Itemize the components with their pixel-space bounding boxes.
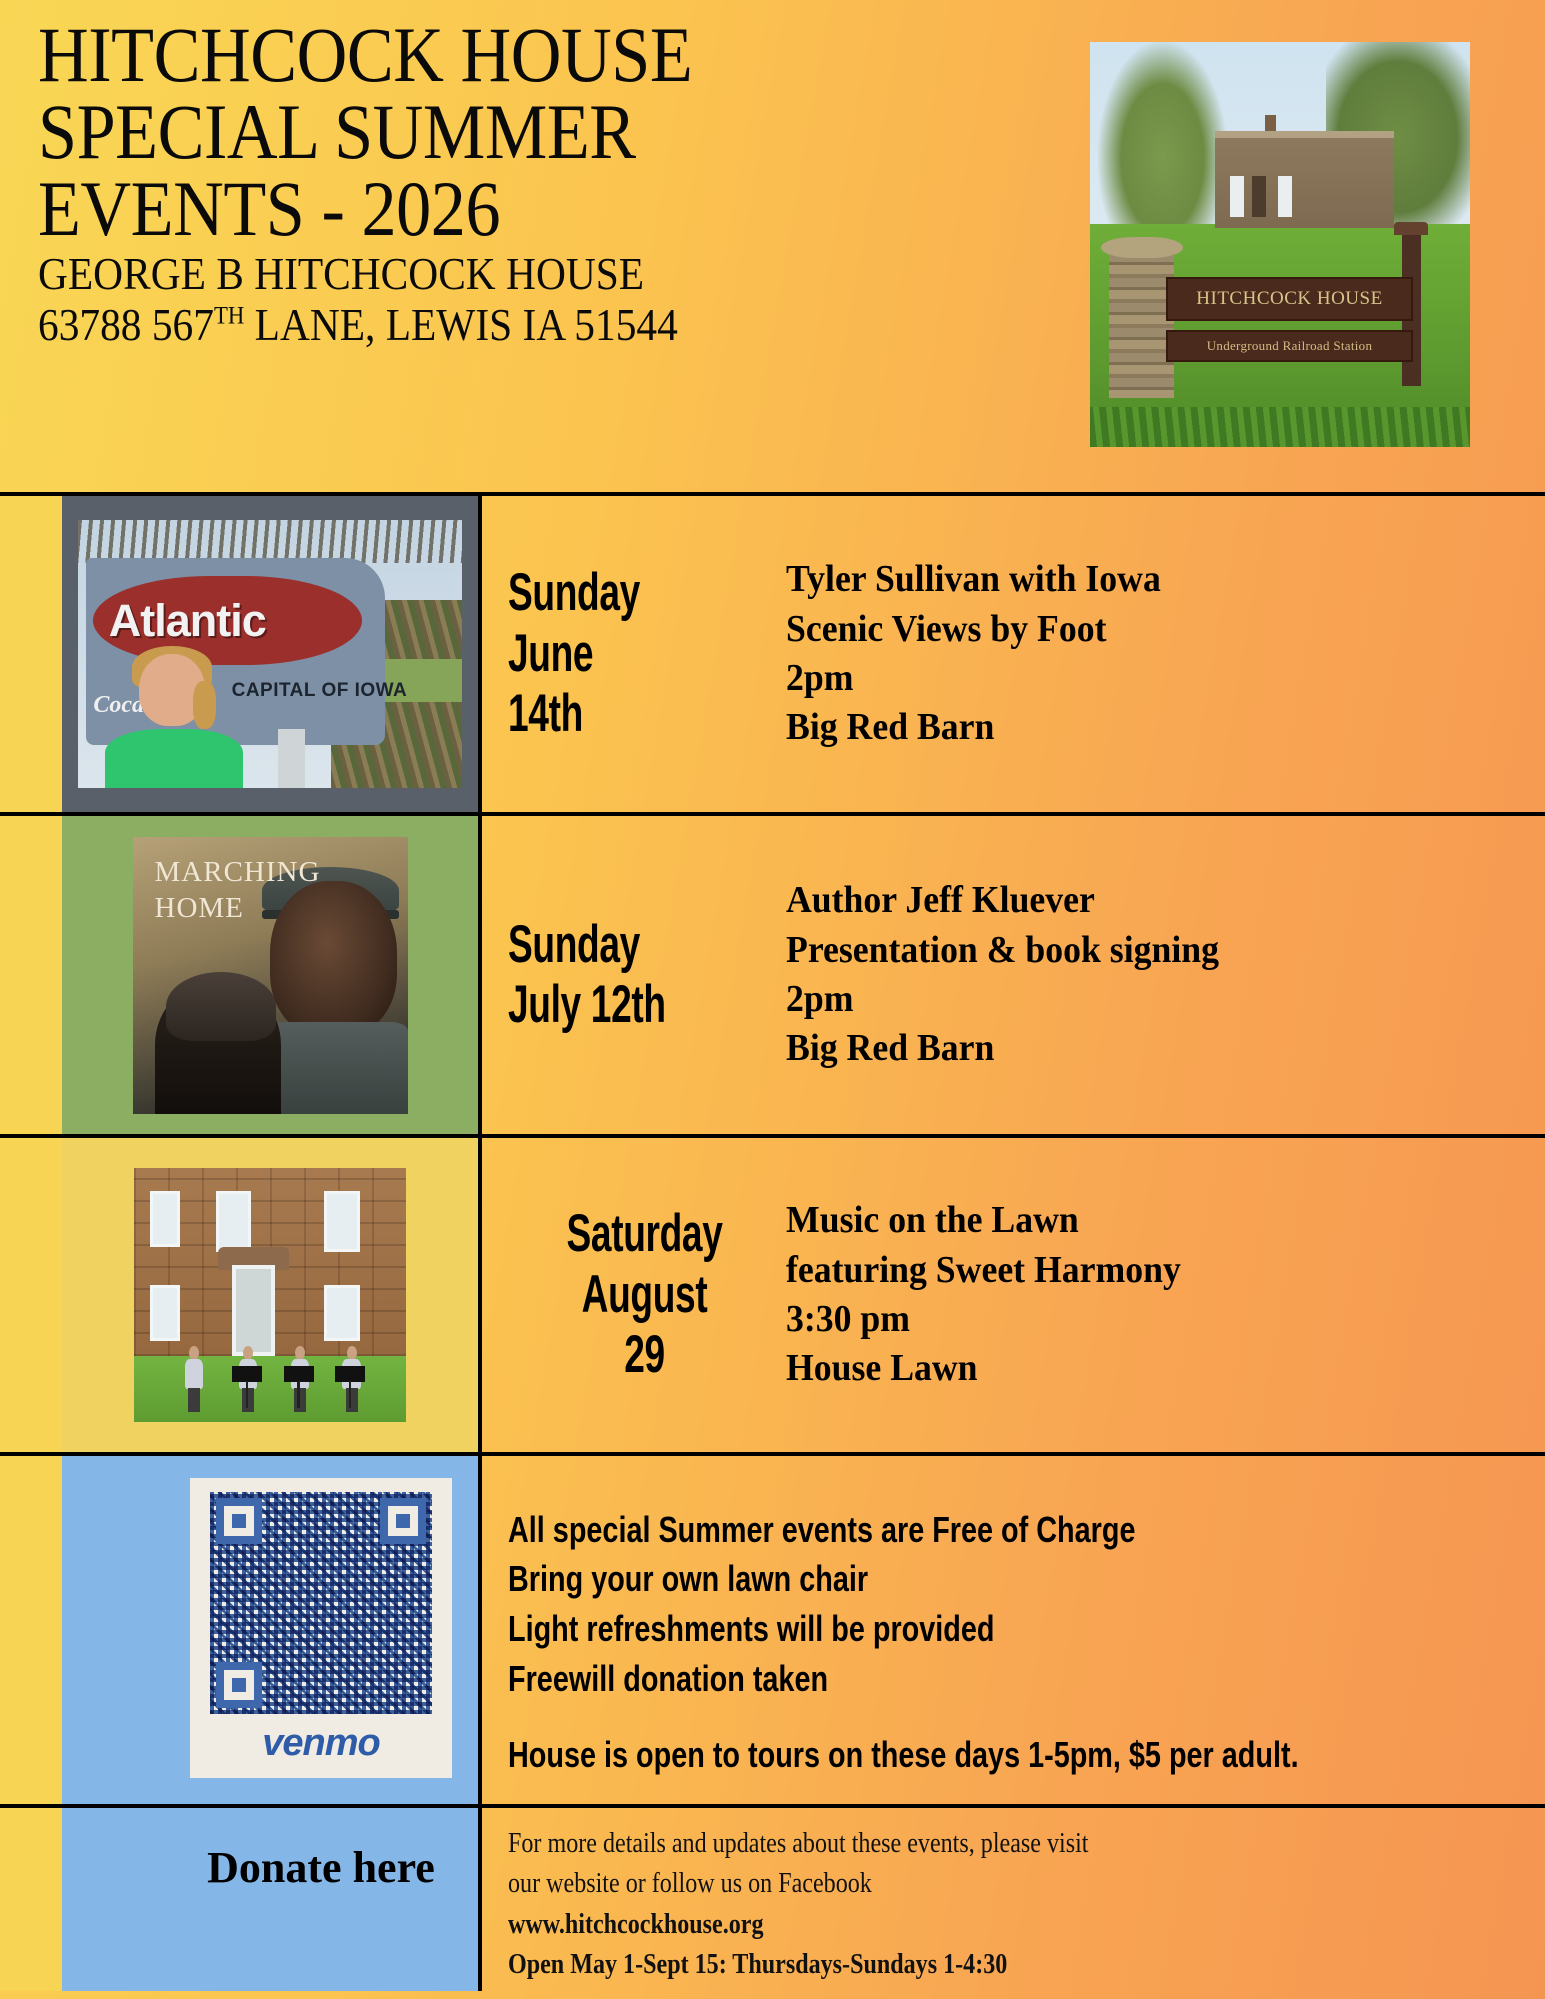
event-date-line: June [508, 624, 703, 684]
event-text-cell: Saturday August 29 Music on the Lawn fea… [482, 1138, 1545, 1452]
row-left-strip [0, 1456, 62, 1804]
tree-left [1098, 42, 1227, 253]
event-date-line: July 12th [508, 975, 703, 1035]
window [324, 1285, 359, 1341]
window [324, 1191, 359, 1252]
footer-line: For more details and updates about these… [508, 1824, 1088, 1864]
address-rest: LANE, LEWIS IA 51544 [244, 299, 677, 350]
address-ordinal-suffix: TH [214, 302, 244, 330]
info-row: venmo All special Summer events are Free… [0, 1452, 1545, 1804]
info-line: All special Summer events are Free of Ch… [508, 1505, 1299, 1555]
event-desc-line: Author Jeff Kluever [786, 876, 1499, 925]
row-left-strip [0, 816, 62, 1134]
sign-board-top: HITCHCOCK HOUSE [1166, 277, 1413, 322]
tours-info-line: House is open to tours on these days 1-5… [508, 1730, 1299, 1780]
marching-home-book-cover: MARCHING HOME [133, 837, 408, 1114]
info-line: Bring your own lawn chair [508, 1554, 1299, 1604]
event-location: Big Red Barn [786, 703, 1499, 752]
music-stand [284, 1366, 314, 1404]
event-time: 2pm [786, 654, 1499, 703]
performer [183, 1346, 205, 1412]
footer-contact: For more details and updates about these… [508, 1824, 1088, 1985]
row-left-strip [0, 1138, 62, 1452]
foreground-grass [1090, 407, 1470, 448]
event-date-line: Saturday [508, 1204, 781, 1264]
info-text-cell: All special Summer events are Free of Ch… [482, 1456, 1545, 1804]
event-location: Big Red Barn [786, 1024, 1499, 1073]
street-address: 63788 567TH LANE, LEWIS IA 51544 [38, 299, 983, 351]
event-time: 2pm [786, 975, 1499, 1024]
header-text-group: HITCHCOCK HOUSE SPECIAL SUMMER EVENTS - … [38, 16, 1088, 492]
stone-pillar [1109, 253, 1174, 399]
event-description: Music on the Lawn featuring Sweet Harmon… [786, 1196, 1499, 1394]
donate-here-label: Donate here [190, 1842, 452, 1893]
soldier-face [270, 881, 397, 1036]
lawn [134, 1356, 406, 1422]
stone-house [1215, 131, 1394, 228]
front-door [232, 1265, 276, 1356]
header-photo-scene: HITCHCOCK HOUSE Underground Railroad Sta… [1090, 42, 1470, 447]
sign-text-primary: HITCHCOCK HOUSE [1196, 288, 1382, 310]
sign-post [278, 729, 305, 788]
poster-title-line-1: HITCHCOCK HOUSE [38, 16, 983, 93]
event-description: Tyler Sullivan with Iowa Scenic Views by… [786, 555, 1499, 753]
event-text-cell: Sunday June 14th Tyler Sullivan with Iow… [482, 496, 1545, 812]
qr-code-image[interactable] [210, 1492, 432, 1714]
person-green-shirt [105, 729, 243, 788]
event-date: Sunday June 14th [508, 563, 703, 744]
row-left-strip [0, 1808, 62, 1991]
person-ponytail [193, 681, 216, 729]
woman-head-scarf [166, 972, 276, 1041]
event-row: Saturday August 29 Music on the Lawn fea… [0, 1134, 1545, 1452]
event-poster: HITCHCOCK HOUSE SPECIAL SUMMER EVENTS - … [0, 0, 1545, 1999]
event-time: 3:30 pm [786, 1295, 1499, 1344]
venmo-qr-code[interactable]: venmo [190, 1478, 452, 1778]
qr-finder-bottom-left [216, 1662, 262, 1708]
events-table: Atlantic Coca CAPITAL OF IOWA Sunday Jun… [0, 492, 1545, 1999]
bare-trees [78, 520, 462, 563]
event-photo-cell: MARCHING HOME [62, 816, 482, 1134]
organization-name: GEORGE B HITCHCOCK HOUSE [38, 248, 983, 300]
music-on-the-lawn-photo [134, 1168, 406, 1422]
footer-text-cell: For more details and updates about these… [482, 1808, 1545, 1991]
event-description: Author Jeff Kluever Presentation & book … [786, 876, 1499, 1074]
window [150, 1285, 180, 1341]
row-left-strip [0, 496, 62, 812]
coca-cola-script: Coca [93, 692, 144, 719]
poster-title-line-2: SPECIAL SUMMER [38, 93, 983, 170]
event-photo-cell [62, 1138, 482, 1452]
address-number: 63788 567 [38, 299, 214, 350]
opening-hours: Open May 1-Sept 15: Thursdays-Sundays 1-… [508, 1945, 1088, 1985]
footer-line: our website or follow us on Facebook [508, 1864, 1088, 1904]
venmo-logo-text: venmo [262, 1722, 379, 1765]
window [216, 1191, 251, 1252]
event-desc-line: Music on the Lawn [786, 1196, 1499, 1245]
sign-text-secondary: Underground Railroad Station [1207, 338, 1373, 354]
info-spacer [508, 1704, 1299, 1730]
event-photo-cell: Atlantic Coca CAPITAL OF IOWA [62, 496, 482, 812]
music-stand [232, 1366, 262, 1404]
info-list: All special Summer events are Free of Ch… [508, 1505, 1299, 1779]
info-line: Freewill donation taken [508, 1654, 1299, 1704]
sign-city-name: Atlantic [109, 595, 266, 647]
event-text-cell: Sunday July 12th Author Jeff Kluever Pre… [482, 816, 1545, 1134]
footer-row: Donate here For more details and updates… [0, 1804, 1545, 1991]
event-date-line: Sunday [508, 915, 703, 975]
event-date-line: Sunday [508, 563, 703, 623]
event-date: Sunday July 12th [508, 915, 703, 1036]
event-date: Saturday August 29 [508, 1204, 703, 1385]
event-date-line: August [508, 1265, 781, 1325]
qr-finder-top-left [216, 1498, 262, 1544]
event-desc-line: featuring Sweet Harmony [786, 1246, 1499, 1295]
music-stand [335, 1366, 365, 1404]
info-line: Light refreshments will be provided [508, 1604, 1299, 1654]
book-title-line-2: HOME [155, 892, 244, 925]
event-desc-line: Scenic Views by Foot [786, 605, 1499, 654]
event-row: Atlantic Coca CAPITAL OF IOWA Sunday Jun… [0, 492, 1545, 812]
sign-subtitle: CAPITAL OF IOWA [232, 681, 408, 701]
sign-board-bottom: Underground Railroad Station [1166, 330, 1413, 362]
tyler-sullivan-atlantic-sign-photo: Atlantic Coca CAPITAL OF IOWA [78, 520, 462, 788]
book-title-line-1: MARCHING [155, 856, 321, 889]
event-desc-line: Tyler Sullivan with Iowa [786, 555, 1499, 604]
poster-header: HITCHCOCK HOUSE SPECIAL SUMMER EVENTS - … [0, 0, 1545, 492]
donation-cell: venmo [62, 1456, 482, 1804]
website-link[interactable]: www.hitchcockhouse.org [508, 1905, 1088, 1945]
event-date-line: 29 [508, 1325, 781, 1385]
event-desc-line: Presentation & book signing [786, 926, 1499, 975]
donate-label-cell: Donate here [62, 1808, 482, 1991]
event-location: House Lawn [786, 1344, 1499, 1393]
event-date-line: 14th [508, 684, 703, 744]
poster-title-line-3: EVENTS - 2026 [38, 170, 983, 247]
event-row: MARCHING HOME Sunday July 12th Author Je… [0, 812, 1545, 1134]
qr-finder-top-right [380, 1498, 426, 1544]
window [150, 1191, 180, 1247]
hitchcock-house-sign-photo: HITCHCOCK HOUSE Underground Railroad Sta… [1090, 42, 1470, 447]
